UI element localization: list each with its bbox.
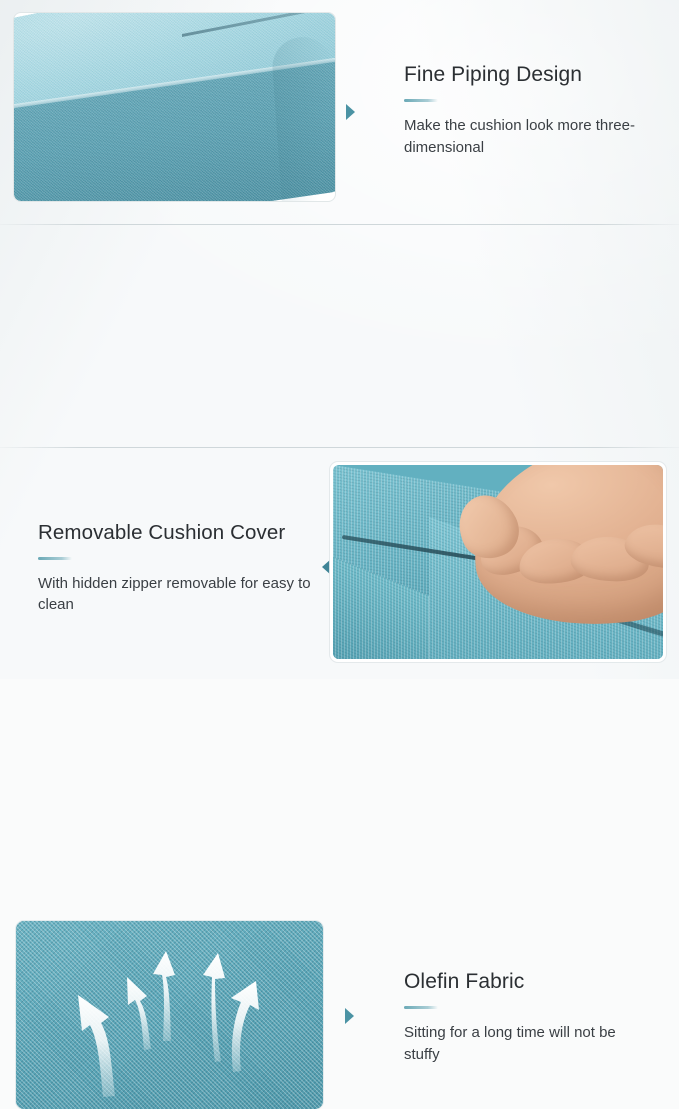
panel-fine-piping-design: Fine Piping Design Make the cushion look… bbox=[0, 0, 679, 225]
panel-removable-cushion-cover: Removable Cushion Cover With hidden zipp… bbox=[0, 225, 679, 448]
pointer-marker-icon bbox=[345, 1008, 354, 1024]
infographic-page: Fine Piping Design Make the cushion look… bbox=[0, 0, 679, 679]
airflow-arrow-2 bbox=[127, 977, 151, 1050]
panel-olefin-fabric: Olefin Fabric Sitting for a long time wi… bbox=[0, 448, 679, 679]
heading-accent-rule bbox=[404, 1006, 438, 1009]
airflow-arrow-shapes bbox=[78, 951, 259, 1097]
pointer-marker-icon bbox=[346, 104, 355, 120]
panel-heading: Fine Piping Design bbox=[404, 62, 654, 88]
panel-heading: Olefin Fabric bbox=[404, 969, 654, 995]
airflow-arrow-5 bbox=[231, 981, 259, 1072]
cushion-corner-photo bbox=[14, 13, 335, 201]
airflow-arrows-group bbox=[16, 921, 323, 1109]
olefin-fabric-photo bbox=[16, 921, 323, 1109]
text-block-olefin-fabric: Olefin Fabric Sitting for a long time wi… bbox=[404, 969, 654, 1081]
airflow-arrow-1 bbox=[78, 995, 115, 1097]
panel-body-text: Sitting for a long time will not be stuf… bbox=[404, 1022, 654, 1066]
text-block-fine-piping: Fine Piping Design Make the cushion look… bbox=[404, 62, 654, 174]
cushion-corner-illustration bbox=[14, 13, 335, 201]
heading-accent-rule bbox=[404, 99, 438, 102]
cushion-right-edge-shade bbox=[270, 35, 335, 201]
panel-body-text: Make the cushion look more three-dimensi… bbox=[404, 115, 654, 159]
airflow-arrow-4 bbox=[203, 953, 225, 1062]
airflow-arrow-3 bbox=[153, 951, 175, 1041]
